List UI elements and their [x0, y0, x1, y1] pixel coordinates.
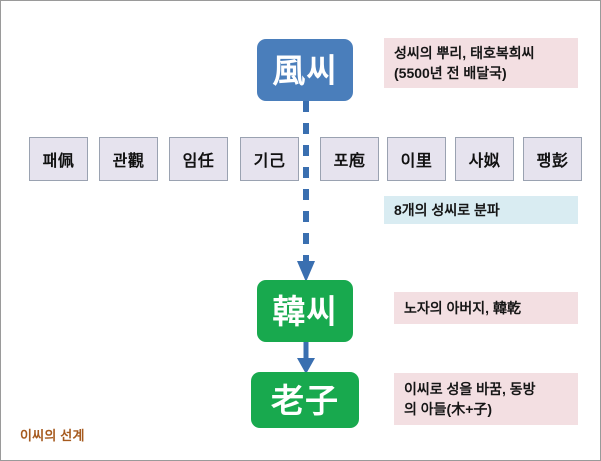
- node-lao-label: 老子: [271, 384, 339, 417]
- surname-box-pae[interactable]: 패佩: [29, 137, 88, 181]
- surname-label: 패佩: [43, 147, 75, 171]
- surname-box-sa[interactable]: 사姒: [455, 137, 514, 181]
- connector-root-to-han: [297, 101, 315, 282]
- node-han[interactable]: 韓씨: [257, 280, 353, 342]
- callout-root-line1: 성씨의 뿌리, 태호복희씨: [394, 43, 570, 63]
- callout-lao-line2: 의 아들(木+子): [404, 399, 570, 419]
- callout-root: 성씨의 뿌리, 태호복희씨 (5500년 전 배달국): [384, 38, 578, 88]
- surname-label: 사姒: [469, 147, 501, 171]
- surname-label: 이里: [401, 147, 433, 171]
- callout-split: 8개의 성씨로 분파: [384, 196, 578, 224]
- diagram-canvas: 風씨 성씨의 뿌리, 태호복희씨 (5500년 전 배달국) 패佩 관觀 임任 …: [0, 0, 601, 461]
- surname-label: 팽彭: [537, 147, 569, 171]
- surname-label: 관觀: [113, 147, 145, 171]
- node-root-label: 風씨: [272, 54, 337, 87]
- surname-box-paeng[interactable]: 팽彭: [523, 137, 582, 181]
- connector-han-to-lao: [297, 342, 315, 374]
- surname-row: 패佩 관觀 임任 기己 포庖 이里 사姒 팽彭: [23, 137, 580, 181]
- callout-root-line2: (5500년 전 배달국): [394, 63, 570, 83]
- node-han-label: 韓씨: [272, 295, 337, 328]
- diagram-caption: 이씨의 선계: [20, 425, 85, 444]
- surname-label: 포庖: [334, 147, 366, 171]
- surname-box-gi[interactable]: 기己: [240, 137, 299, 181]
- surname-label: 기己: [254, 147, 286, 171]
- callout-lao-line1: 이씨로 성을 바꿈, 동방: [404, 379, 570, 399]
- surname-box-im[interactable]: 임任: [169, 137, 228, 181]
- callout-han: 노자의 아버지, 韓乾: [394, 292, 578, 324]
- surname-box-po[interactable]: 포庖: [320, 137, 379, 181]
- callout-han-line1: 노자의 아버지, 韓乾: [404, 298, 570, 318]
- callout-split-line1: 8개의 성씨로 분파: [394, 200, 570, 220]
- node-root-pung[interactable]: 風씨: [257, 39, 353, 101]
- surname-label: 임任: [183, 147, 215, 171]
- surname-box-i[interactable]: 이里: [387, 137, 446, 181]
- callout-lao: 이씨로 성을 바꿈, 동방 의 아들(木+子): [394, 373, 578, 425]
- node-lao[interactable]: 老子: [251, 372, 359, 428]
- surname-box-gwan[interactable]: 관觀: [99, 137, 158, 181]
